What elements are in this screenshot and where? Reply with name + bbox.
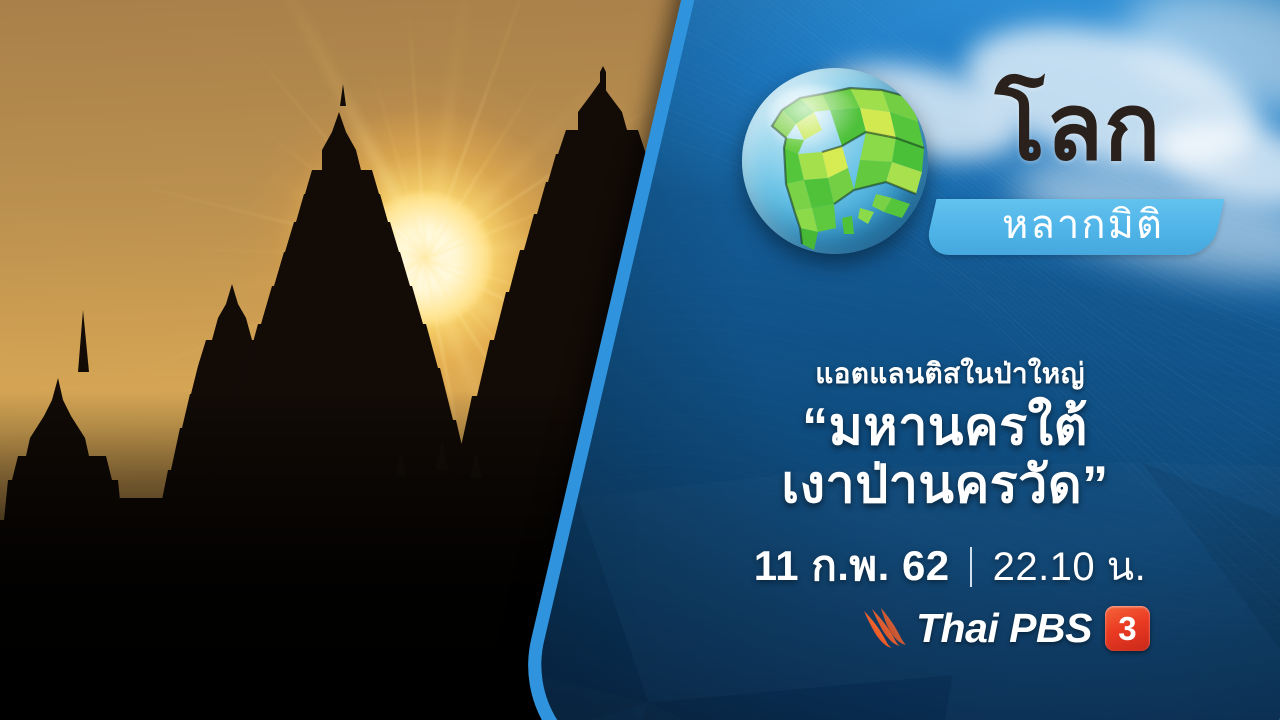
- episode-title: “มหานครใต้ เงาป่านครวัด”: [630, 398, 1260, 514]
- globe-icon: [742, 68, 928, 254]
- schedule-separator: [970, 547, 972, 587]
- broadcast-time: 22.10 น.: [993, 545, 1147, 589]
- thaipbs-logo: Thai PBS 3: [862, 600, 1150, 656]
- episode-subtitle: แอตแลนติสในป่าใหญ่: [640, 352, 1260, 396]
- promo-banner: โลก หลากมิติ แอตแลนติสในป่าใหญ่ “มหานครใ…: [0, 0, 1280, 720]
- program-logo-subtitle: หลากมิติ: [963, 204, 1203, 246]
- broadcast-schedule: 11 ก.พ. 62 22.10 น.: [640, 533, 1260, 599]
- thaipbs-bird-icon: [862, 607, 906, 649]
- channel-badge: 3: [1105, 606, 1150, 651]
- channel-number: 3: [1118, 612, 1136, 645]
- episode-title-line2: เงาป่านครวัด”: [630, 456, 1260, 514]
- broadcast-date: 11 ก.พ. 62: [754, 542, 950, 589]
- program-logo-title: โลก: [995, 82, 1161, 173]
- thaipbs-wordmark: Thai PBS: [916, 608, 1092, 649]
- episode-title-line1: “มหานครใต้: [802, 398, 1088, 456]
- globe-highlight: [768, 85, 861, 152]
